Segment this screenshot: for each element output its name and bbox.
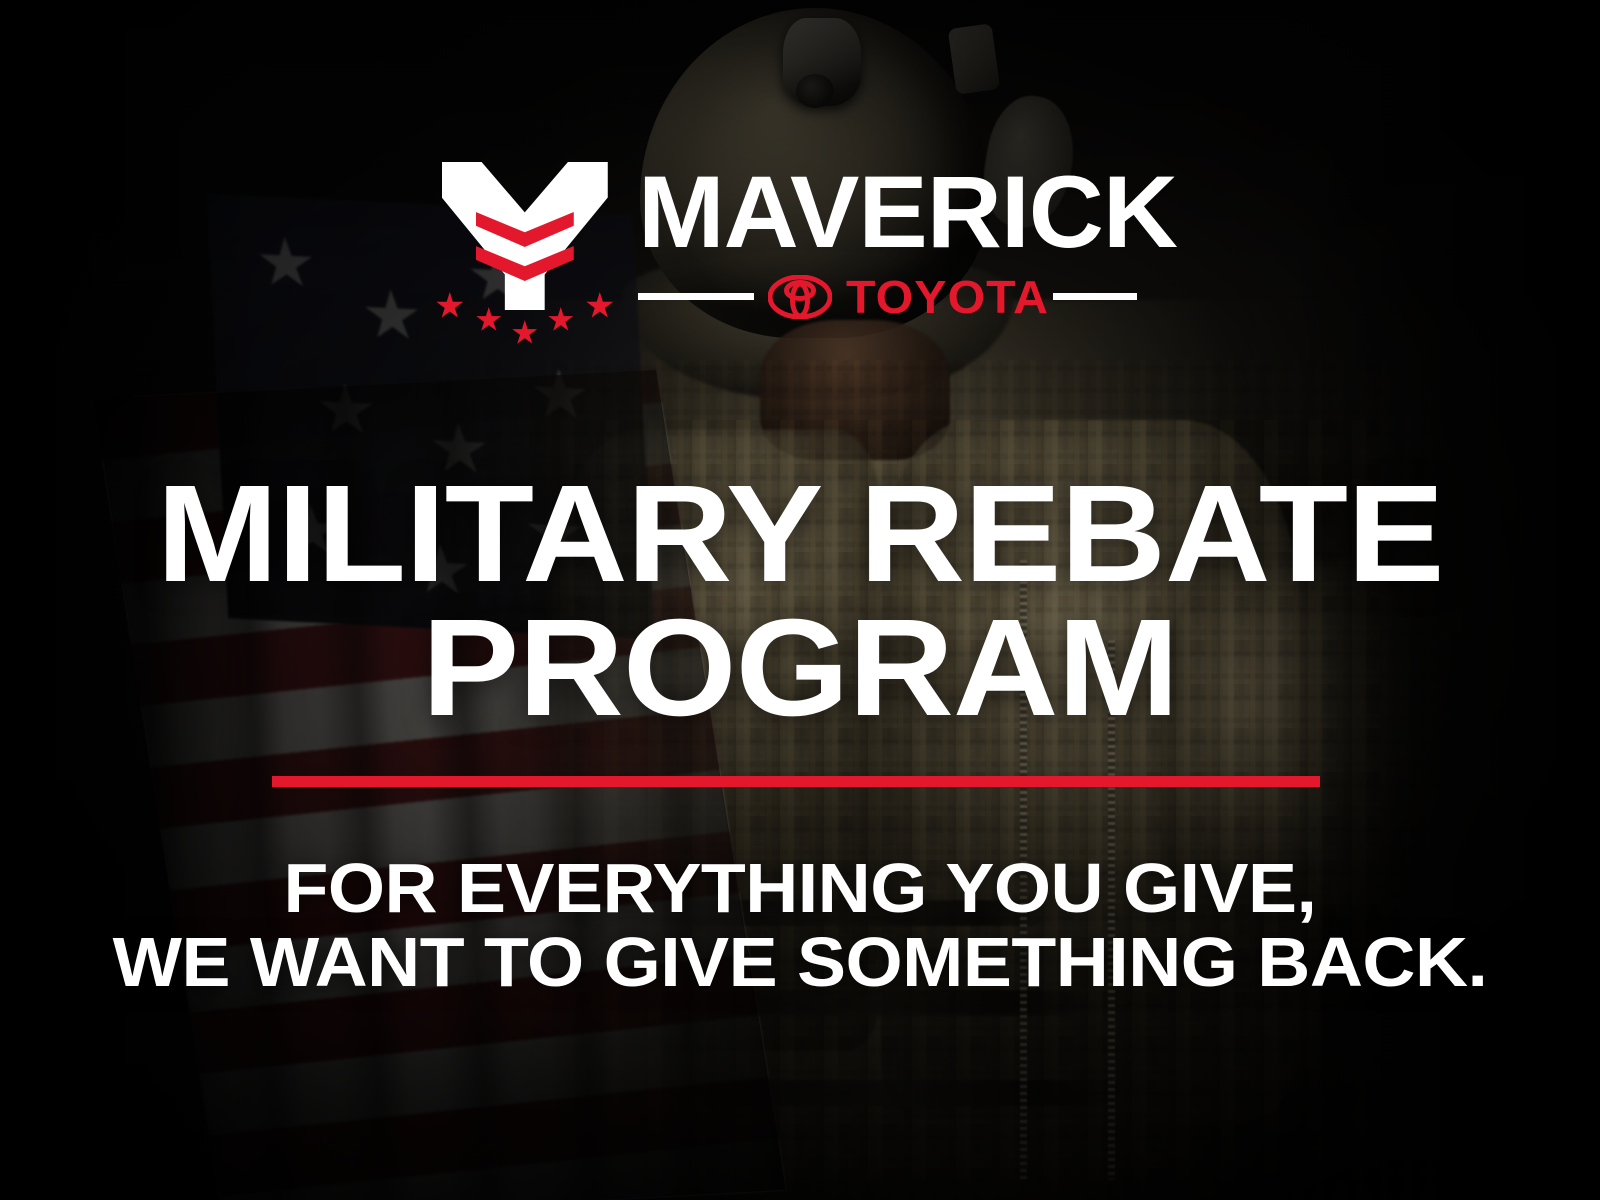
toyota-lockup-row: TOYOTA [638, 274, 1166, 320]
emblem-star-row [434, 290, 616, 350]
toyota-wordmark: TOYOTA [846, 274, 1049, 320]
brand-wordmark-block: MAVERICK TOYOTA [638, 160, 1166, 320]
emblem-star [476, 307, 502, 333]
toyota-ellipse-logo-icon [768, 275, 832, 319]
emblem-star [436, 292, 464, 320]
promo-banner: MAVERICK TOYOTA MILITARY REBAT [0, 0, 1600, 1200]
page-subtitle: FOR EVERYTHING YOU GIVE, WE WANT TO GIVE… [0, 852, 1600, 999]
emblem-star [512, 320, 538, 346]
subhead-line-1: FOR EVERYTHING YOU GIVE, [0, 852, 1600, 926]
page-title: MILITARY REBATE PROGRAM [0, 468, 1600, 736]
headline-line-2: PROGRAM [0, 602, 1600, 736]
emblem-star [586, 292, 614, 320]
brand-wordmark: MAVERICK [638, 166, 1177, 260]
subhead-line-2: WE WANT TO GIVE SOMETHING BACK. [0, 926, 1600, 1000]
maverick-chevron-emblem-icon [434, 160, 616, 350]
brand-logo-lockup[interactable]: MAVERICK TOYOTA [0, 160, 1600, 350]
banner-content: MAVERICK TOYOTA MILITARY REBAT [0, 0, 1600, 1200]
toyota-rule-right [1053, 293, 1137, 300]
emblem-star [548, 307, 574, 333]
headline-line-1: MILITARY REBATE [0, 468, 1600, 602]
toyota-rule-left [638, 293, 754, 300]
red-divider-rule [272, 776, 1320, 787]
